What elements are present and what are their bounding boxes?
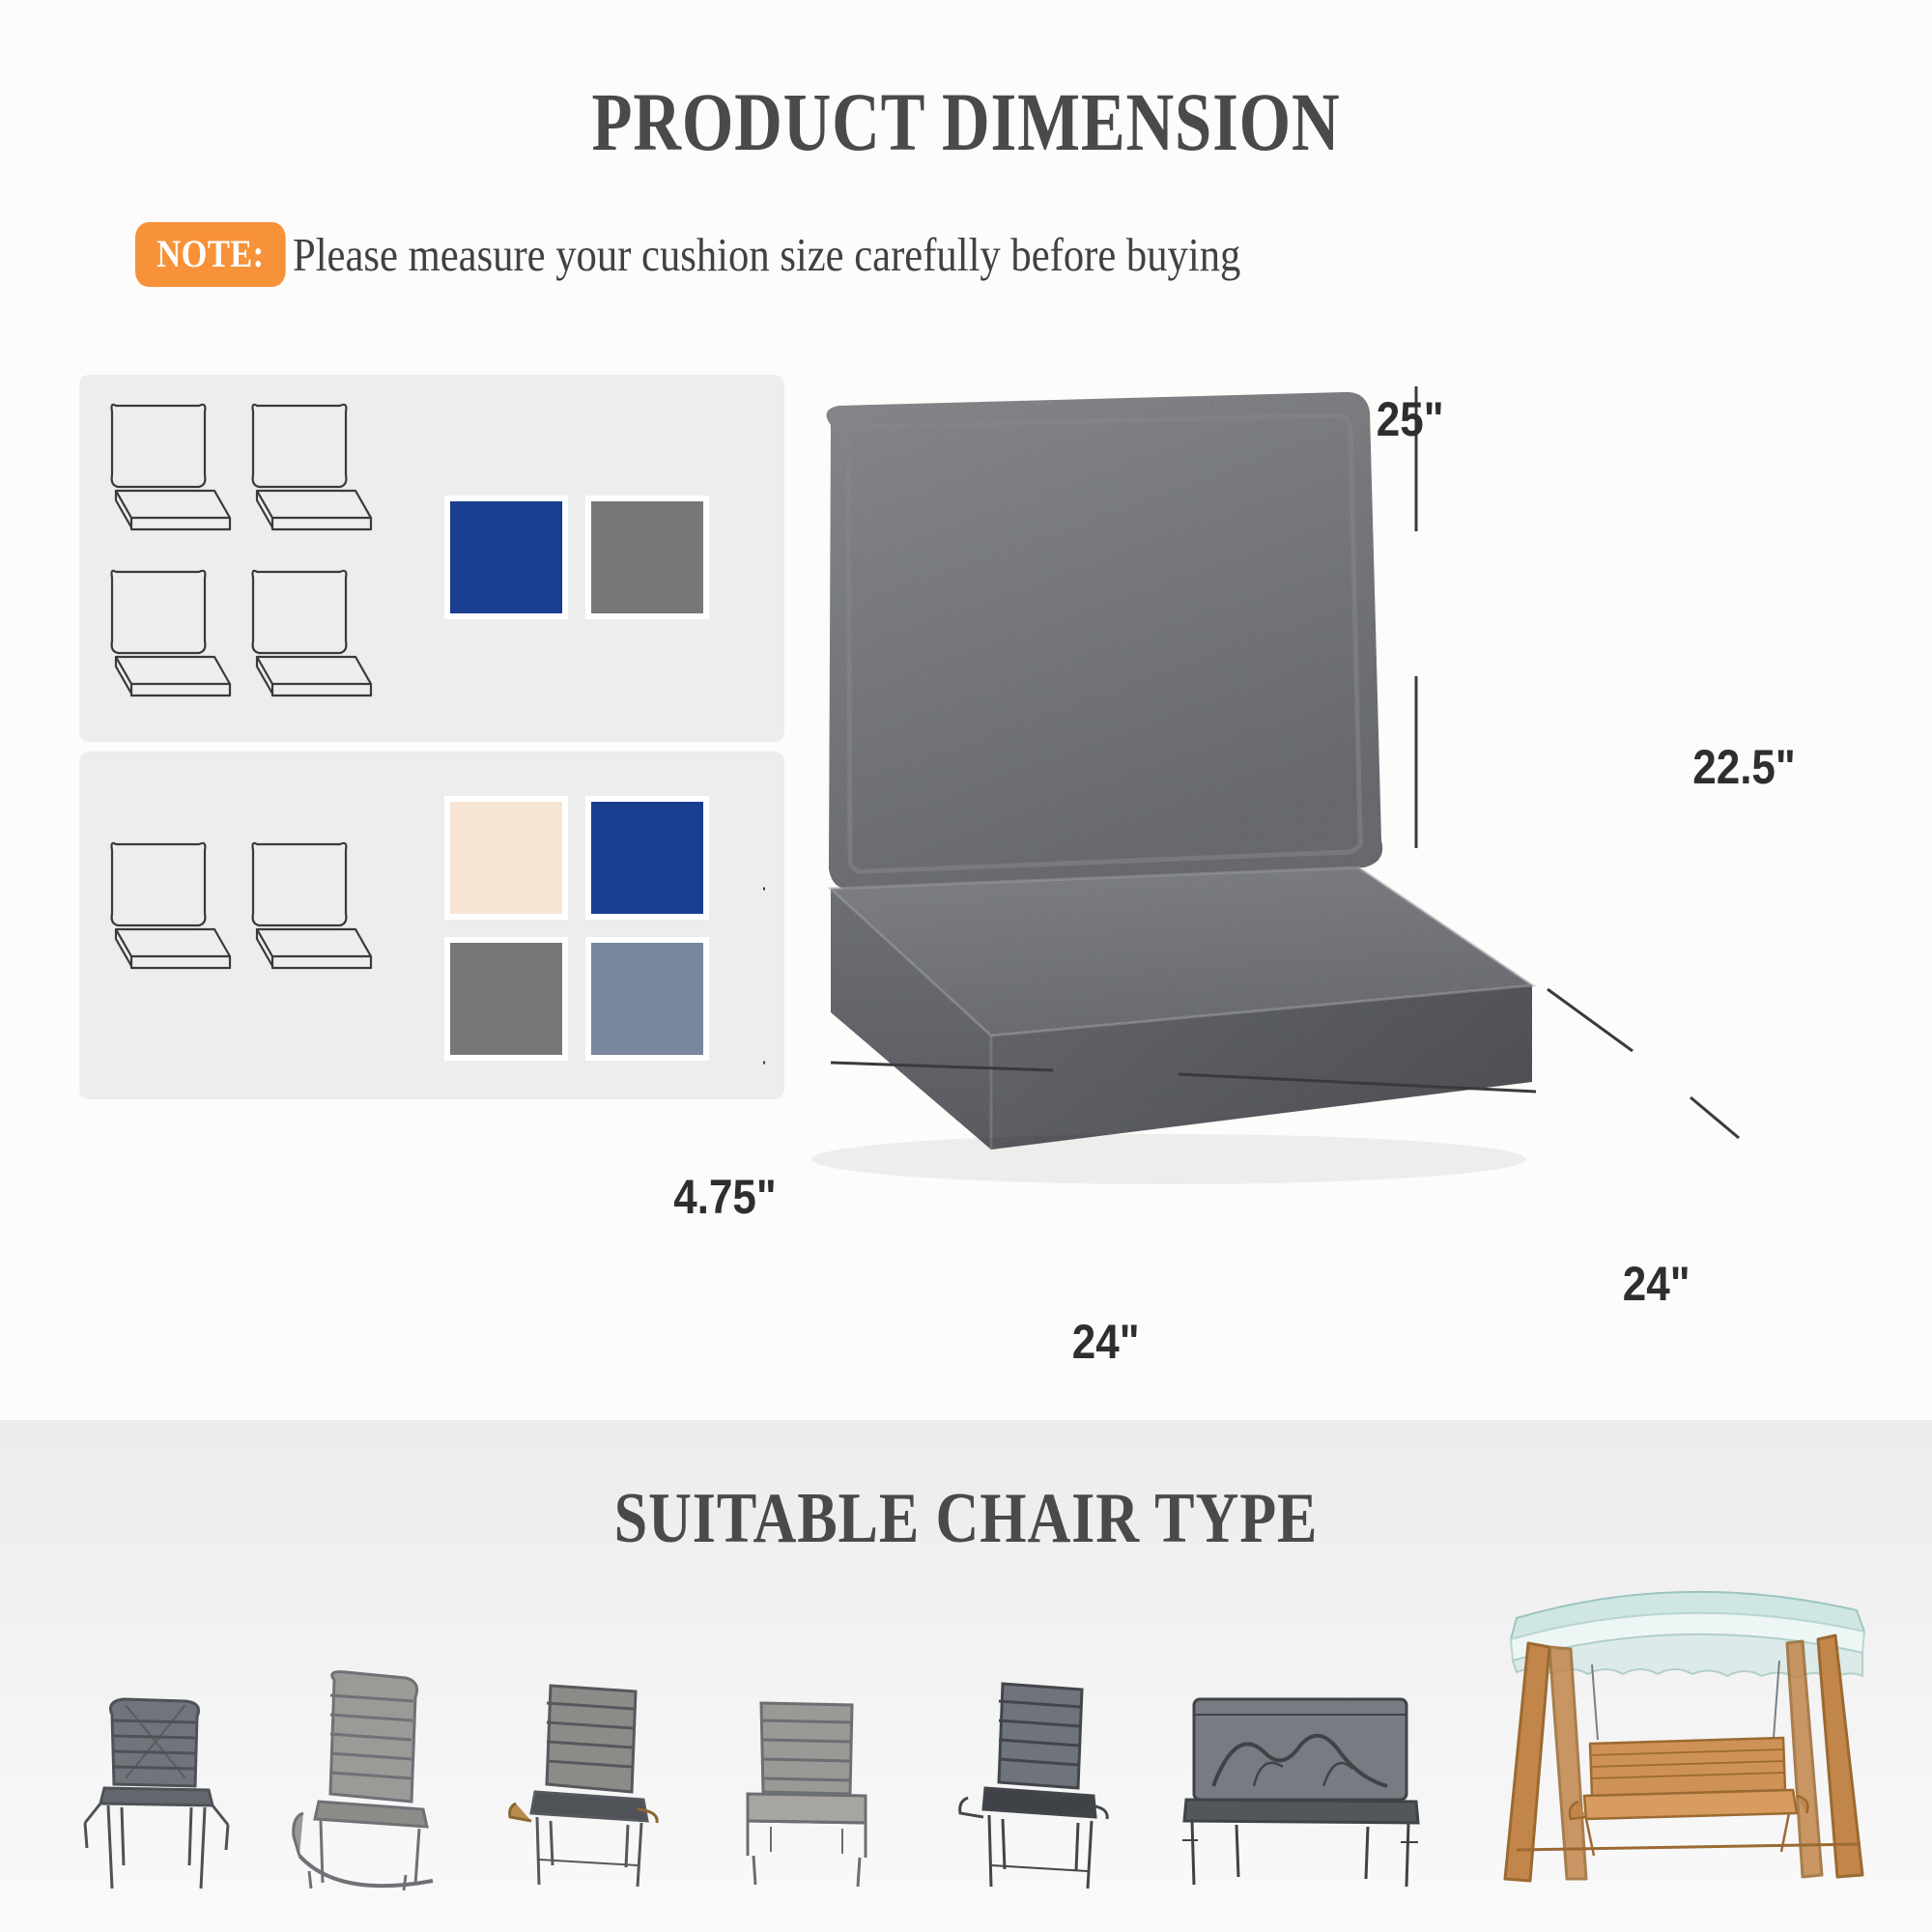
swatch-navy-blue[interactable]: [444, 496, 568, 619]
chair-type-wicker-rocking-chair: [270, 1666, 464, 1913]
variant-panel-two-piece: [79, 752, 784, 1099]
wooden-canopy-porch-swing-icon: [1478, 1560, 1893, 1918]
swatch-beige[interactable]: [444, 796, 568, 920]
swatch-grid-four-piece: [444, 496, 709, 619]
dimension-guides: [763, 386, 1864, 1410]
dimension-label-back-width: 25": [1377, 391, 1444, 447]
dimension-label-seat-width: 24": [1072, 1314, 1140, 1370]
swatch-gray[interactable]: [585, 496, 709, 619]
dimension-label-back-height: 22.5": [1692, 739, 1796, 795]
chair-type-cast-aluminum-lattice-chair: [68, 1686, 241, 1913]
chair-outline-group-two: [100, 831, 390, 1005]
dimension-label-seat-thickness: 4.75": [673, 1169, 777, 1225]
chair-type-metal-mesh-stacking-chair: [947, 1676, 1130, 1913]
note-badge: NOTE:: [135, 222, 286, 287]
cushion-illustration: [763, 386, 1864, 1410]
swatch-slate-blue[interactable]: [585, 937, 709, 1061]
chair-type-wicker-dining-armchair: [493, 1676, 686, 1913]
dimension-label-seat-depth: 24": [1623, 1256, 1690, 1312]
scrollwork-garden-bench-icon: [1169, 1686, 1439, 1908]
cast-aluminum-lattice-chair-icon: [68, 1686, 241, 1908]
page-title: PRODUCT DIMENSION: [193, 73, 1739, 170]
metal-mesh-stacking-chair-icon: [947, 1676, 1130, 1908]
swatch-grid-two-piece: [444, 796, 709, 1061]
wicker-cube-armchair-icon: [715, 1686, 898, 1908]
note-text: Please measure your cushion size careful…: [293, 227, 1240, 282]
chair-outline-group-four: [100, 392, 390, 721]
infographic-page: PRODUCT DIMENSION NOTE: Please measure y…: [0, 0, 1932, 1932]
variant-panel-four-piece: [79, 375, 784, 742]
chair-type-scrollwork-garden-bench: [1169, 1686, 1439, 1913]
suitable-chair-title: SUITABLE CHAIR TYPE: [155, 1478, 1777, 1560]
wicker-rocking-chair-icon: [270, 1666, 464, 1908]
note-row: NOTE: Please measure your cushion size c…: [135, 222, 1382, 287]
chair-type-wooden-canopy-porch-swing: [1478, 1560, 1893, 1922]
chair-type-wicker-cube-armchair: [715, 1686, 898, 1913]
chair-type-row: [0, 1565, 1932, 1932]
wicker-dining-armchair-icon: [493, 1676, 686, 1908]
swatch-gray[interactable]: [444, 937, 568, 1061]
swatch-navy-blue[interactable]: [585, 796, 709, 920]
